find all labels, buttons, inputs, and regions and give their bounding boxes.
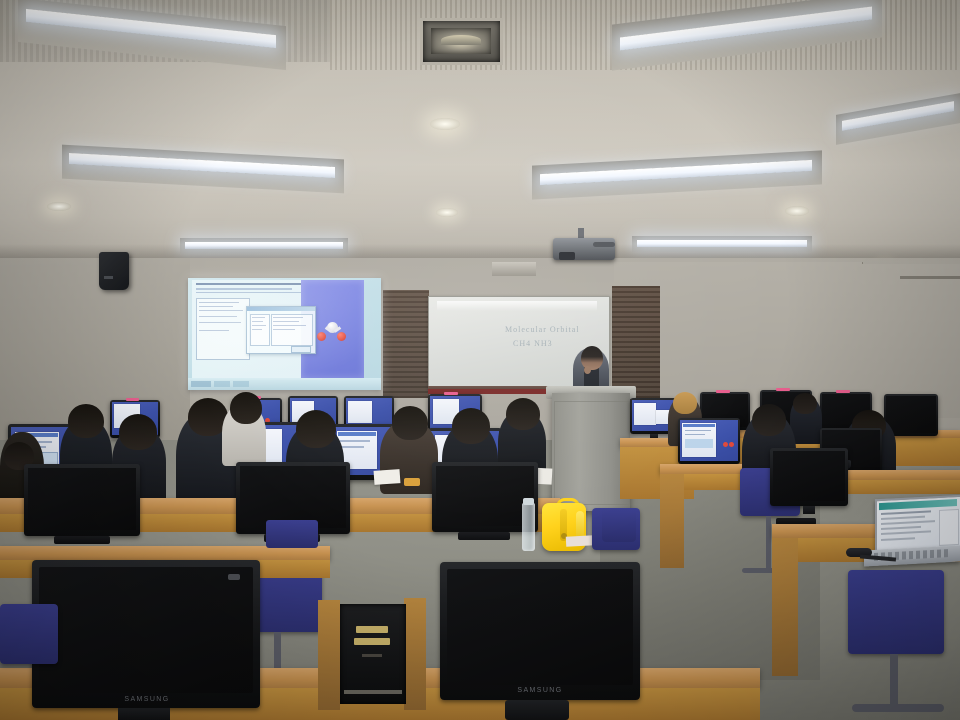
windows-taskbar	[188, 378, 381, 390]
monitor-stand	[118, 708, 170, 720]
wall-speaker	[99, 252, 129, 290]
desktop-pc-tower	[340, 604, 406, 704]
settings-dialog	[246, 306, 316, 354]
chair[interactable]	[266, 520, 318, 548]
monitor-label	[776, 388, 790, 391]
chair[interactable]	[848, 570, 944, 654]
laptop-app-titlebar	[879, 499, 957, 510]
student-head	[506, 398, 540, 430]
molecule-atom-left	[317, 332, 326, 341]
student-head	[230, 392, 262, 424]
ceiling-light-fixture	[62, 152, 344, 186]
monitor-brand-logo: SAMSUNG	[124, 695, 170, 703]
ceiling-downlight	[436, 208, 458, 217]
student-head	[752, 404, 786, 436]
wall-trim	[900, 276, 960, 279]
monitor	[24, 464, 140, 536]
dialog-titlebar	[247, 307, 315, 311]
desk-right-middle-side	[660, 474, 684, 568]
chair[interactable]	[0, 604, 58, 664]
monitor-label	[444, 392, 458, 395]
whiteboard-note-2: CH4 NH3	[513, 339, 553, 348]
lectern-podium	[552, 393, 630, 511]
ceiling-downlight	[430, 118, 460, 130]
wall-mounted-unit	[492, 262, 536, 276]
whiteboard-glare	[437, 301, 597, 311]
monitor: SAMSUNG	[440, 562, 640, 700]
laptop-side-panel	[939, 509, 959, 546]
student-head	[673, 392, 697, 414]
desk-front-right-side	[772, 538, 798, 676]
chair-post	[890, 654, 898, 710]
open-laptop[interactable]	[875, 495, 960, 554]
monitor-label	[126, 398, 139, 401]
ceiling-mounted-projector	[553, 238, 615, 260]
student-head	[452, 408, 490, 444]
ceiling-light-fixture	[612, 8, 882, 54]
desk-second-row	[0, 546, 330, 560]
chair[interactable]	[602, 508, 636, 542]
ceiling-downlight	[47, 202, 71, 211]
monitor-base	[458, 532, 510, 540]
vent-blade	[441, 35, 481, 45]
ceiling-light-fixture	[532, 158, 822, 192]
student-head	[119, 414, 157, 450]
chair-base	[852, 704, 944, 712]
projection-screen	[188, 278, 381, 390]
monitor-stand	[505, 700, 569, 720]
bottle-cap	[523, 498, 534, 505]
monitor-label	[716, 390, 730, 393]
paper-sheet	[566, 535, 594, 546]
ceiling-downlight	[785, 206, 809, 216]
desk-divider-panel	[318, 600, 340, 710]
ceiling-air-vent	[420, 18, 503, 65]
water-bottle	[522, 503, 535, 551]
whiteboard-note-1: Molecular Orbital	[505, 325, 580, 334]
paper-sheet	[374, 469, 401, 485]
student-head	[68, 404, 104, 438]
dialog-ok-button	[291, 346, 311, 353]
student-head	[296, 410, 336, 448]
wood-wall-panel	[383, 290, 429, 398]
instructor-hand	[584, 366, 591, 374]
monitor: SAMSUNG	[32, 560, 260, 708]
ceiling-light-fixture	[836, 104, 960, 134]
desk-divider-panel	[404, 598, 426, 710]
monitor-bezel-highlight	[228, 574, 240, 580]
monitor-base	[54, 536, 110, 544]
molecule-atom-right	[337, 332, 346, 341]
student-head	[392, 406, 428, 440]
monitor	[678, 418, 740, 464]
monitor	[770, 448, 848, 506]
desk-item	[404, 478, 420, 486]
chair-post	[766, 516, 771, 572]
monitor-label	[836, 390, 850, 393]
ceiling-light-fixture	[18, 12, 286, 56]
student-head	[793, 393, 817, 414]
monitor-brand-logo: SAMSUNG	[518, 686, 562, 694]
classroom-photo: Molecular Orbital CH4 NH3	[0, 0, 960, 720]
